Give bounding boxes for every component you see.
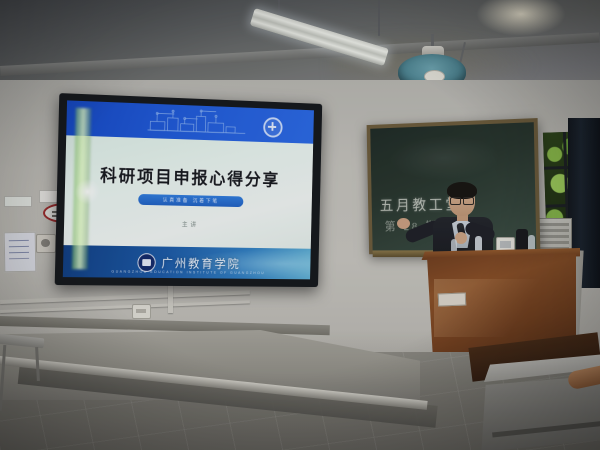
speaker-left-hand bbox=[397, 218, 410, 229]
slide-surface: 科研项目申报心得分享 认真准备 沉着下笔 主讲 广州教育学院 GUANGZHOU… bbox=[63, 100, 314, 279]
light-rod-2 bbox=[378, 0, 380, 36]
slide-footer: 广州教育学院 GUANGZHOU EDUCATION INSTITUTE OF … bbox=[63, 245, 311, 279]
desk-shelf bbox=[492, 419, 600, 437]
slide-title: 科研项目申报心得分享 bbox=[65, 160, 313, 191]
light-switch[interactable] bbox=[36, 234, 56, 253]
circuit-cityscape-icon bbox=[138, 107, 257, 138]
footer-institution-name-en: GUANGZHOU EDUCATION INSTITUTE OF GUANGZH… bbox=[111, 270, 265, 275]
wall-poster-1 bbox=[4, 196, 32, 207]
grey-chair[interactable] bbox=[0, 336, 46, 422]
chair-leg-2 bbox=[35, 347, 40, 381]
eyeglasses-icon bbox=[450, 197, 474, 203]
institution-seal-icon bbox=[137, 253, 156, 272]
chair-leg-1 bbox=[0, 345, 6, 411]
podium-black-object bbox=[516, 229, 528, 252]
footer-institution-name: 广州教育学院 bbox=[161, 254, 241, 272]
chalk-smudge bbox=[388, 133, 501, 181]
water-bottle-2 bbox=[451, 239, 457, 252]
foreground-desk[interactable] bbox=[478, 352, 600, 450]
power-outlet[interactable] bbox=[132, 304, 151, 319]
projection-screen: 科研项目申报心得分享 认真准备 沉着下笔 主讲 广州教育学院 GUANGZHOU… bbox=[55, 93, 323, 287]
slide-subtitle-badge: 认真准备 沉着下笔 bbox=[138, 194, 244, 207]
light-rod-1 bbox=[278, 0, 280, 14]
water-bottle-1 bbox=[475, 236, 482, 252]
podium-sheen bbox=[434, 279, 554, 337]
classroom-photo: 五月教工堂 第 28 期 bbox=[0, 0, 600, 450]
notice-sheet bbox=[4, 232, 37, 273]
podium-nameplate bbox=[438, 293, 466, 307]
slide-body: 科研项目申报心得分享 认真准备 沉着下笔 主讲 bbox=[64, 136, 314, 249]
plus-circle-icon bbox=[263, 117, 283, 138]
slide-author: 主讲 bbox=[64, 217, 311, 230]
